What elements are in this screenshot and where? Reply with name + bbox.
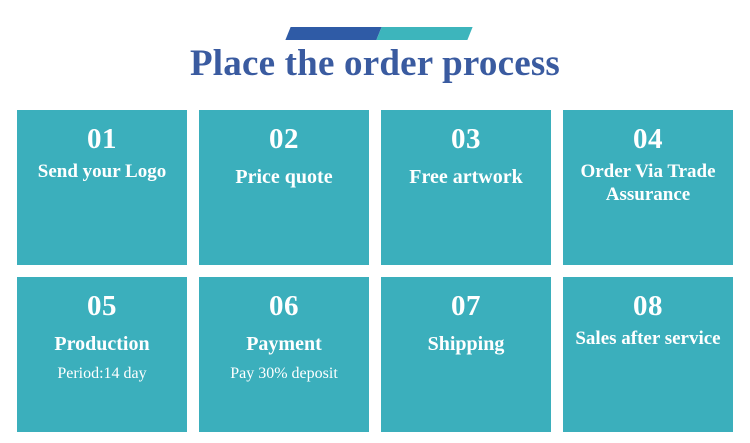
process-step-grid: 01Send your Logo02Price quote03Free artw… [17,110,733,432]
process-step-row: 05ProductionPeriod:14 day06PaymentPay 30… [17,277,733,432]
process-step-number: 04 [633,123,663,155]
page-title: Place the order process [0,45,750,84]
process-step-number: 05 [87,290,117,322]
process-step-number: 02 [269,123,299,155]
decoration-segment-right [376,27,472,40]
process-step-number: 08 [633,290,663,322]
page-header: Place the order process [0,0,750,104]
process-step-card-05[interactable]: 05ProductionPeriod:14 day [17,277,187,432]
process-step-label: Payment [244,332,324,356]
process-step-number: 01 [87,123,117,155]
process-step-number: 07 [451,290,481,322]
process-step-number: 03 [451,123,481,155]
process-step-label: Production [52,332,151,356]
process-step-detail: Pay 30% deposit [227,364,341,383]
process-step-label: Order Via Trade Assurance [567,161,729,207]
dual-tone-parallelogram-decoration [285,27,472,40]
decoration-segment-left [285,27,381,40]
process-step-card-03[interactable]: 03Free artwork [381,110,551,265]
process-step-label: Shipping [426,332,507,356]
process-step-label: Sales after service [573,328,722,351]
process-step-card-02[interactable]: 02Price quote [199,110,369,265]
process-step-detail: Period:14 day [54,364,149,383]
process-step-card-08[interactable]: 08Sales after service [563,277,733,432]
process-step-label: Send your Logo [36,161,168,184]
process-step-row: 01Send your Logo02Price quote03Free artw… [17,110,733,265]
process-step-label: Free artwork [407,165,524,189]
process-step-label: Price quote [233,165,334,189]
process-step-card-06[interactable]: 06PaymentPay 30% deposit [199,277,369,432]
process-step-number: 06 [269,290,299,322]
process-step-card-07[interactable]: 07Shipping [381,277,551,432]
process-step-card-01[interactable]: 01Send your Logo [17,110,187,265]
process-step-card-04[interactable]: 04Order Via Trade Assurance [563,110,733,265]
